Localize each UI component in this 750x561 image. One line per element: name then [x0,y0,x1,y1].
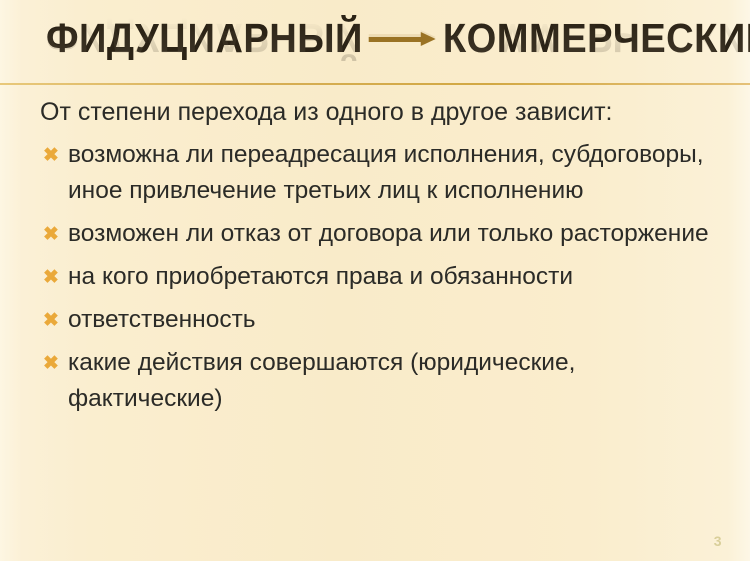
bullet-cross-icon: ✖ [43,217,59,253]
bullet-cross-icon: ✖ [43,138,59,174]
title-right-word: КОММЕРЧЕСКИЙ [443,15,750,61]
slide-title: ФИДУЦИАРНЫЙКОММЕРЧЕСКИЙ ФИДУЦИАРНЫЙКОММЕ… [0,14,750,84]
slide-canvas: ФИДУЦИАРНЫЙКОММЕРЧЕСКИЙ ФИДУЦИАРНЫЙКОММЕ… [0,0,750,561]
list-item-text: возможна ли переадресация исполнения, су… [68,137,730,209]
title-left-word: ФИДУЦИАРНЫЙ [46,15,363,61]
list-item: ✖ возможна ли переадресация исполнения, … [0,137,750,209]
bullet-cross-icon: ✖ [43,260,59,296]
list-item-text: ответственность [68,302,730,338]
list-item: ✖ на кого приобретаются права и обязанно… [0,259,750,295]
list-item-text: на кого приобретаются права и обязанност… [68,259,730,295]
list-item: ✖ возможен ли отказ от договора или толь… [0,216,750,252]
bullet-cross-icon: ✖ [43,303,59,339]
right-arrow-icon [369,32,438,46]
arrow-shaft [369,37,423,42]
list-item-text: возможен ли отказ от договора или только… [68,216,730,252]
page-number: 3 [714,533,722,549]
title-divider [0,83,750,85]
list-item: ✖ ответственность [0,302,750,338]
bullet-cross-icon: ✖ [43,346,59,382]
list-item-text: какие действия совершаются (юридические,… [68,345,730,417]
list-item: ✖ какие действия совершаются (юридически… [0,345,750,417]
bullet-list: ✖ возможна ли переадресация исполнения, … [0,137,750,417]
intro-text: От степени перехода из одного в другое з… [0,93,750,131]
slide-title-text: ФИДУЦИАРНЫЙКОММЕРЧЕСКИЙ [46,14,750,62]
slide-body: От степени перехода из одного в другое з… [0,93,750,424]
arrow-head [421,32,436,46]
